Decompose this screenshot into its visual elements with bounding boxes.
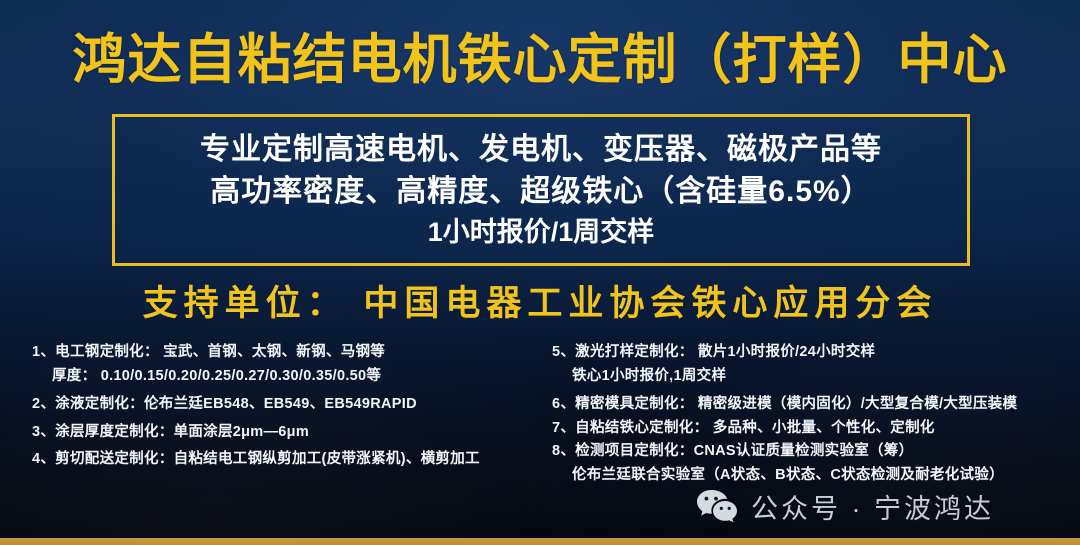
page-title: 鸿达自粘结电机铁心定制（打样）中心	[0, 30, 1080, 90]
spec-line-2: 高功率密度、高精度、超级铁心（含硅量6.5%）	[115, 171, 967, 213]
spec-lines: 专业定制高速电机、发电机、变压器、磁极产品等 高功率密度、高精度、超级铁心（含硅…	[115, 129, 967, 251]
wechat-account-label: 公众号 · 宁波鸿达	[751, 494, 994, 524]
spec-highlight-box: 专业定制高速电机、发电机、变压器、磁极产品等 高功率密度、高精度、超级铁心（含硅…	[112, 114, 970, 266]
spec-line-3: 1小时报价/1周交样	[115, 213, 967, 251]
wechat-icon	[695, 488, 739, 529]
list-item-main: 3、涂层厚度定制化：单面涂层2μm—6μm	[32, 424, 309, 440]
list-item-sub: 厚度： 0.10/0.15/0.20/0.25/0.27/0.30/0.35/0…	[32, 365, 552, 389]
service-list: 1、电工钢定制化： 宝武、首钢、太钢、新钢、马钢等 厚度： 0.10/0.15/…	[0, 341, 1080, 491]
promo-poster: 鸿达自粘结电机铁心定制（打样）中心 专业定制高速电机、发电机、变压器、磁极产品等…	[0, 0, 1080, 545]
wechat-account-block[interactable]: 公众号 · 宁波鸿达	[695, 488, 994, 529]
list-item: 7、自粘结铁心定制化： 多品种、小批量、个性化、定制化	[552, 417, 1080, 441]
list-item: 5、激光打样定制化： 散片1小时报价/24小时交样 铁心1小时报价,1周交样	[552, 341, 1080, 388]
list-item-main: 2、涂液定制化：伦布兰廷EB548、EB549、EB549RAPID	[32, 396, 417, 412]
list-item-sub: 铁心1小时报价,1周交样	[552, 365, 1080, 389]
footer-bar: 公众号 · 宁波鸿达	[0, 482, 1080, 538]
list-item: 3、涂层厚度定制化：单面涂层2μm—6μm	[32, 421, 552, 445]
list-item: 1、电工钢定制化： 宝武、首钢、太钢、新钢、马钢等 厚度： 0.10/0.15/…	[32, 341, 552, 388]
list-item-main: 6、精密模具定制化： 精密级进模（模内固化）/大型复合模/大型压装模	[552, 396, 1017, 412]
list-item-main: 1、电工钢定制化： 宝武、首钢、太钢、新钢、马钢等	[32, 344, 385, 360]
list-item: 6、精密模具定制化： 精密级进模（模内固化）/大型复合模/大型压装模	[552, 393, 1080, 417]
bottom-accent-strip	[0, 538, 1080, 545]
list-item: 2、涂液定制化：伦布兰廷EB548、EB549、EB549RAPID	[32, 393, 552, 417]
service-list-right-column: 5、激光打样定制化： 散片1小时报价/24小时交样 铁心1小时报价,1周交样 6…	[552, 341, 1080, 487]
list-item-main: 8、检测项目定制化：CNAS认证质量检测实验室（筹）	[552, 443, 913, 459]
list-item: 4、剪切配送定制化：自粘结电工钢纵剪加工(皮带涨紧机)、横剪加工	[32, 448, 552, 472]
list-item: 8、检测项目定制化：CNAS认证质量检测实验室（筹） 伦布兰廷联合实验室（A状态…	[552, 440, 1080, 487]
spec-line-1: 专业定制高速电机、发电机、变压器、磁极产品等	[115, 129, 967, 171]
support-organization-line: 支持单位： 中国电器工业协会铁心应用分会	[0, 283, 1080, 325]
list-item-main: 4、剪切配送定制化：自粘结电工钢纵剪加工(皮带涨紧机)、横剪加工	[32, 451, 480, 467]
list-item-main: 5、激光打样定制化： 散片1小时报价/24小时交样	[552, 344, 875, 360]
service-list-left-column: 1、电工钢定制化： 宝武、首钢、太钢、新钢、马钢等 厚度： 0.10/0.15/…	[32, 341, 552, 472]
list-item-main: 7、自粘结铁心定制化： 多品种、小批量、个性化、定制化	[552, 420, 935, 436]
